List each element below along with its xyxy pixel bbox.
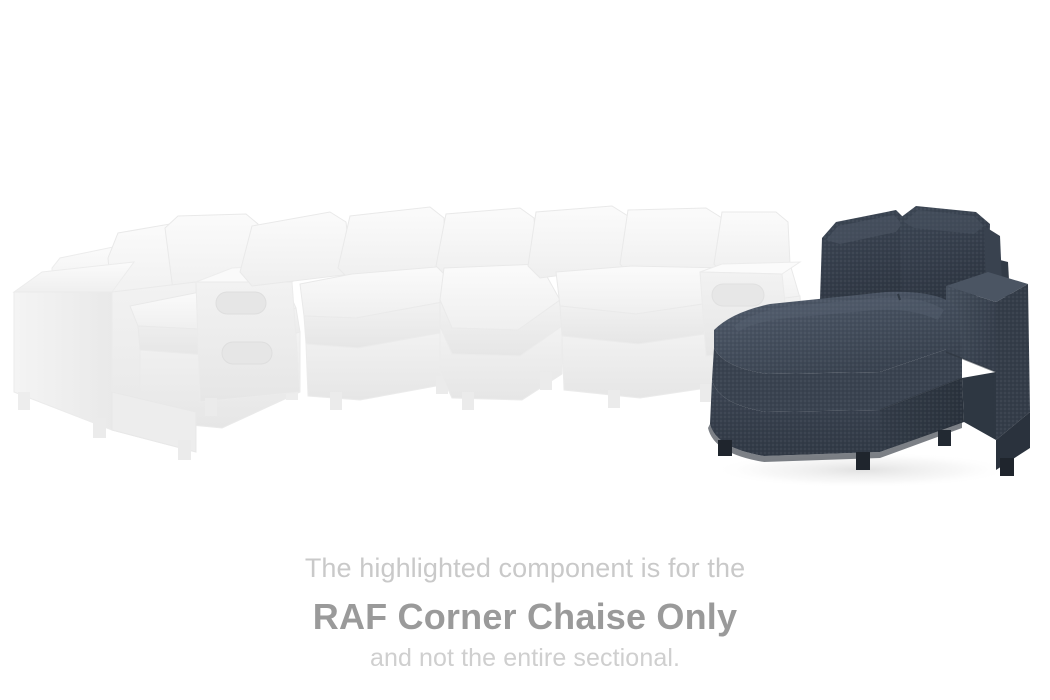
sofa-leg: [608, 390, 620, 408]
sofa-leg: [18, 392, 30, 410]
chaise-leg-far-right: [1000, 458, 1014, 476]
chaise-base-under-arm: [962, 372, 996, 440]
product-highlight-card: The highlighted component is for the RAF…: [0, 0, 1050, 700]
cup-holder: [222, 342, 272, 364]
chaise-leg-front-left: [718, 440, 732, 456]
dimmed-sectional-group: [14, 206, 804, 460]
sofa-leg: [540, 372, 552, 390]
sofa-leg: [178, 440, 191, 460]
sofa-leg: [93, 418, 106, 438]
sofa-leg: [700, 384, 712, 402]
sectional-sofa-drawing: [0, 0, 1050, 520]
product-illustration: [0, 0, 1050, 520]
chaise-leg-rear-right: [938, 430, 951, 446]
caption-line-3: and not the entire sectional.: [0, 644, 1050, 673]
caption-line-2-component-name: RAF Corner Chaise Only: [0, 596, 1050, 638]
caption-line-1: The highlighted component is for the: [0, 553, 1050, 584]
sofa-leg: [205, 398, 217, 416]
cup-holder: [216, 292, 266, 314]
sofa-leg: [330, 392, 342, 410]
chaise-leg-front-right: [856, 452, 870, 470]
sofa-leg: [462, 392, 474, 410]
cup-holder: [712, 284, 764, 306]
